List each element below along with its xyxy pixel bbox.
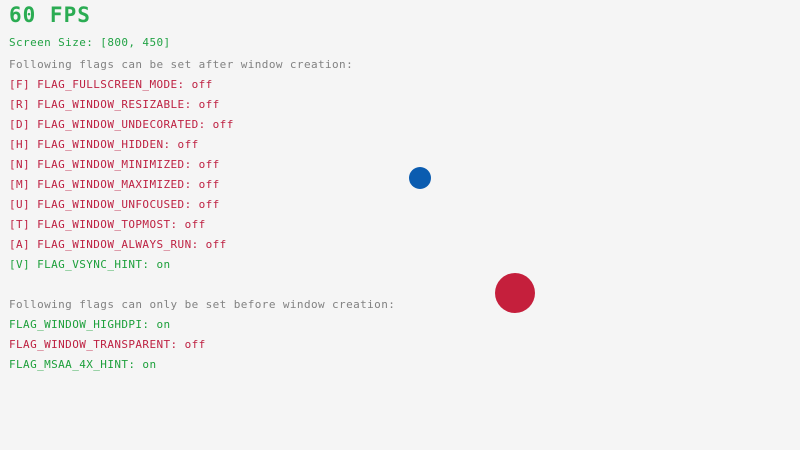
flag-row-flag_window_resizable[interactable]: [R] FLAG_WINDOW_RESIZABLE: off — [9, 99, 220, 110]
flag-row-flag_window_topmost[interactable]: [T] FLAG_WINDOW_TOPMOST: off — [9, 219, 206, 230]
section-heading-after-creation: Following flags can be set after window … — [9, 59, 353, 70]
bouncing-ball-red — [495, 273, 535, 313]
flag-row-flag_msaa_4x_hint[interactable]: FLAG_MSAA_4X_HINT: on — [9, 359, 156, 370]
flag-row-flag_window_minimized[interactable]: [N] FLAG_WINDOW_MINIMIZED: off — [9, 159, 220, 170]
flag-row-flag_window_transparent[interactable]: FLAG_WINDOW_TRANSPARENT: off — [9, 339, 206, 350]
flag-row-flag_window_undecorated[interactable]: [D] FLAG_WINDOW_UNDECORATED: off — [9, 119, 234, 130]
section-heading-before-creation: Following flags can only be set before w… — [9, 299, 395, 310]
flag-row-flag_vsync_hint[interactable]: [V] FLAG_VSYNC_HINT: on — [9, 259, 171, 270]
flag-row-flag_window_always_run[interactable]: [A] FLAG_WINDOW_ALWAYS_RUN: off — [9, 239, 227, 250]
screen-size-readout: Screen Size: [800, 450] — [9, 37, 171, 48]
flag-row-flag_window_hidden[interactable]: [H] FLAG_WINDOW_HIDDEN: off — [9, 139, 199, 150]
bouncing-ball-blue — [409, 167, 431, 189]
raylib-window-flags-demo: 60 FPS Screen Size: [800, 450] Following… — [0, 0, 800, 450]
flag-row-flag_window_highdpi[interactable]: FLAG_WINDOW_HIGHDPI: on — [9, 319, 171, 330]
flag-row-flag_fullscreen_mode[interactable]: [F] FLAG_FULLSCREEN_MODE: off — [9, 79, 213, 90]
flag-row-flag_window_maximized[interactable]: [M] FLAG_WINDOW_MAXIMIZED: off — [9, 179, 220, 190]
fps-counter: 60 FPS — [9, 5, 91, 26]
flag-row-flag_window_unfocused[interactable]: [U] FLAG_WINDOW_UNFOCUSED: off — [9, 199, 220, 210]
